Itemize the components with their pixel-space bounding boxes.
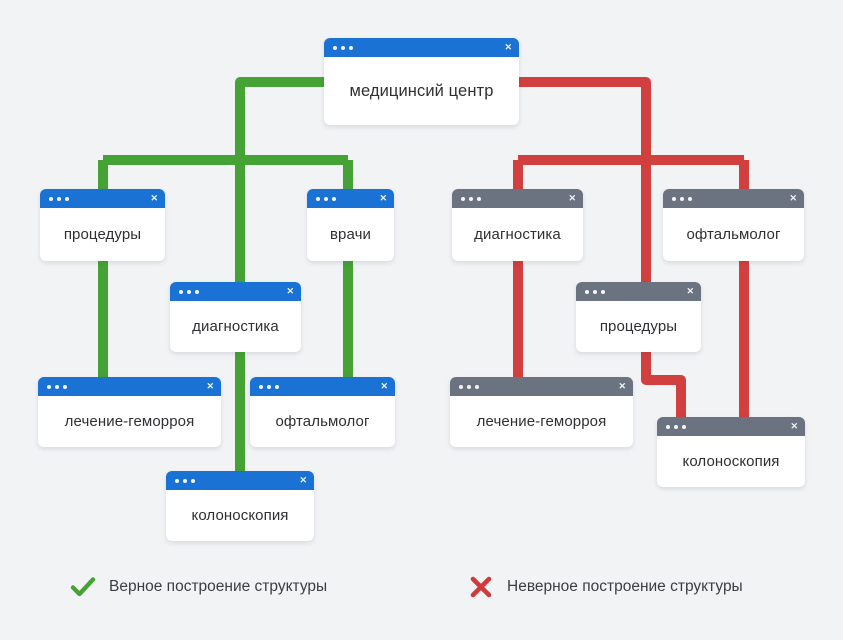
node-body: процедуры — [40, 208, 165, 261]
node-correct-treatment[interactable]: ✕ лечение-геморроя — [38, 377, 221, 447]
node-body: врачи — [307, 208, 394, 261]
node-label: колоноскопия — [191, 507, 288, 524]
window-dots-icon — [666, 417, 686, 436]
node-body: лечение-геморроя — [38, 396, 221, 447]
window-dots-icon — [47, 377, 67, 396]
cross-icon — [468, 574, 494, 600]
titlebar: ✕ — [38, 377, 221, 396]
node-label: медицинсий центр — [350, 82, 494, 101]
legend-incorrect: Неверное построение структуры — [468, 574, 743, 600]
node-incorrect-diagnostics[interactable]: ✕ диагностика — [452, 189, 583, 261]
node-body: лечение-геморроя — [450, 396, 633, 447]
node-label: врачи — [330, 226, 371, 243]
diagram-canvas: ✕ медицинсий центр ✕ процедуры ✕ врачи ✕… — [0, 0, 843, 640]
node-incorrect-eyedoctor[interactable]: ✕ офтальмолог — [663, 189, 804, 261]
close-icon[interactable]: ✕ — [618, 377, 626, 396]
close-icon[interactable]: ✕ — [790, 417, 798, 436]
window-dots-icon — [175, 471, 195, 490]
window-dots-icon — [179, 282, 199, 301]
titlebar: ✕ — [307, 189, 394, 208]
node-label: диагностика — [474, 226, 561, 243]
legend-correct: Верное построение структуры — [70, 574, 327, 600]
node-correct-root[interactable]: ✕ медицинсий центр — [324, 38, 519, 125]
window-dots-icon — [459, 377, 479, 396]
node-body: колоноскопия — [657, 436, 805, 487]
node-incorrect-procedures[interactable]: ✕ процедуры — [576, 282, 701, 352]
node-correct-diagnostics[interactable]: ✕ диагностика — [170, 282, 301, 352]
close-icon[interactable]: ✕ — [286, 282, 294, 301]
close-icon[interactable]: ✕ — [504, 38, 512, 57]
titlebar: ✕ — [452, 189, 583, 208]
close-icon[interactable]: ✕ — [299, 471, 307, 490]
close-icon[interactable]: ✕ — [206, 377, 214, 396]
window-dots-icon — [672, 189, 692, 208]
close-icon[interactable]: ✕ — [686, 282, 694, 301]
node-label: процедуры — [600, 318, 677, 335]
close-icon[interactable]: ✕ — [789, 189, 797, 208]
node-label: процедуры — [64, 226, 141, 243]
node-label: колоноскопия — [682, 453, 779, 470]
titlebar: ✕ — [657, 417, 805, 436]
titlebar: ✕ — [40, 189, 165, 208]
node-label: диагностика — [192, 318, 279, 335]
window-dots-icon — [333, 38, 353, 57]
node-body: офтальмолог — [663, 208, 804, 261]
node-correct-eyedoctor[interactable]: ✕ офтальмолог — [250, 377, 395, 447]
titlebar: ✕ — [450, 377, 633, 396]
window-dots-icon — [49, 189, 69, 208]
close-icon[interactable]: ✕ — [568, 189, 576, 208]
node-body: процедуры — [576, 301, 701, 352]
close-icon[interactable]: ✕ — [380, 377, 388, 396]
titlebar: ✕ — [170, 282, 301, 301]
node-body: диагностика — [452, 208, 583, 261]
node-incorrect-colonoscopy[interactable]: ✕ колоноскопия — [657, 417, 805, 487]
close-icon[interactable]: ✕ — [379, 189, 387, 208]
node-incorrect-treatment[interactable]: ✕ лечение-геморроя — [450, 377, 633, 447]
window-dots-icon — [461, 189, 481, 208]
window-dots-icon — [585, 282, 605, 301]
titlebar: ✕ — [663, 189, 804, 208]
legend-correct-label: Верное построение структуры — [109, 578, 327, 596]
node-correct-colonoscopy[interactable]: ✕ колоноскопия — [166, 471, 314, 541]
node-body: колоноскопия — [166, 490, 314, 541]
node-body: медицинсий центр — [324, 57, 519, 125]
window-dots-icon — [259, 377, 279, 396]
titlebar: ✕ — [324, 38, 519, 57]
node-label: офтальмолог — [275, 413, 369, 430]
close-icon[interactable]: ✕ — [150, 189, 158, 208]
node-body: диагностика — [170, 301, 301, 352]
node-body: офтальмолог — [250, 396, 395, 447]
green-root-to-trunk — [240, 82, 330, 160]
node-correct-doctors[interactable]: ✕ врачи — [307, 189, 394, 261]
node-label: лечение-геморроя — [477, 413, 607, 430]
red-root-to-trunk — [513, 82, 646, 160]
window-dots-icon — [316, 189, 336, 208]
titlebar: ✕ — [250, 377, 395, 396]
titlebar: ✕ — [166, 471, 314, 490]
titlebar: ✕ — [576, 282, 701, 301]
legend-incorrect-label: Неверное построение структуры — [507, 578, 743, 596]
node-correct-procedures[interactable]: ✕ процедуры — [40, 189, 165, 261]
node-label: лечение-геморроя — [65, 413, 195, 430]
node-label: офтальмолог — [686, 226, 780, 243]
check-icon — [70, 574, 96, 600]
